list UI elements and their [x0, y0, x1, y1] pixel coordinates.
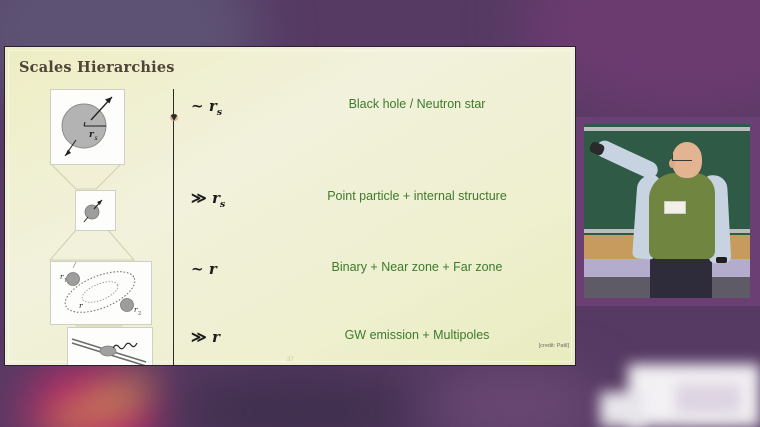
- connector-panel2-to-panel3: [49, 229, 135, 261]
- slide-title: Scales Hierarchies: [19, 59, 175, 76]
- presenter-video-inset: [576, 117, 760, 306]
- presentation-slide: Scales Hierarchies: [5, 47, 575, 365]
- presenter-glasses: [672, 154, 692, 161]
- connector-panel1-to-panel2: [49, 162, 123, 190]
- scale-symbol: ≫ r: [191, 328, 220, 349]
- presenter-watch: [716, 257, 727, 263]
- screenshot-root: Scales Hierarchies: [0, 0, 760, 427]
- video-frame-left: [576, 117, 584, 306]
- chalkboard-rail-top: [576, 127, 760, 131]
- svg-text:2: 2: [138, 311, 141, 317]
- scale-description: GW emission + Multipoles: [267, 328, 567, 342]
- scale-description: Black hole / Neutron star: [267, 97, 567, 111]
- scale-description: Binary + Near zone + Far zone: [267, 260, 567, 274]
- video-frame-bottom: [576, 298, 760, 306]
- video-frame-right: [750, 117, 760, 306]
- scale-symbol: ~ r: [191, 260, 217, 281]
- svg-text:r: r: [79, 301, 83, 310]
- credit-label: [credit: Patil]: [539, 343, 569, 349]
- scale-row: ~ r Binary + Near zone + Far zone: [5, 260, 575, 286]
- video-scene: [576, 117, 760, 306]
- scale-symbol: ~ rs: [191, 97, 222, 118]
- presenter-vest: [649, 173, 715, 259]
- foreground-chart-bars: [680, 384, 738, 414]
- svg-text:s: s: [95, 135, 98, 142]
- scale-row: ~ rs Black hole / Neutron star: [5, 97, 575, 123]
- video-frame-top: [576, 117, 760, 124]
- scale-symbol: ≫ rs: [191, 189, 225, 210]
- slide-page-number: 37: [287, 357, 294, 363]
- scale-row: ≫ r GW emission + Multipoles: [5, 328, 575, 354]
- scale-row: ≫ rs Point particle + internal structure: [5, 189, 575, 215]
- presenter-name-badge: [664, 201, 686, 214]
- scale-axis-arrow: [168, 89, 180, 365]
- scale-description: Point particle + internal structure: [267, 189, 567, 203]
- foreground-paper-edge: [600, 392, 644, 427]
